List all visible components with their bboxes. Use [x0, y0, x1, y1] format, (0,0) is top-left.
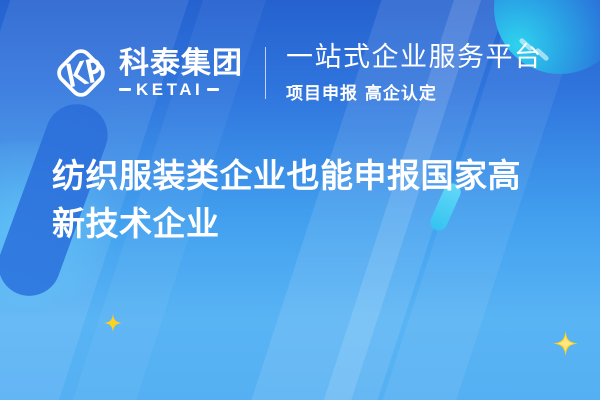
sparkle-star-icon: [104, 314, 122, 332]
dash-right-icon: [207, 88, 219, 91]
brand-logo[interactable]: 科泰集团 KETAI: [52, 44, 243, 102]
banner-headline: 纺织服装类企业也能申报国家高新技术企业: [52, 152, 522, 248]
slogan-main: 一站式企业服务平台: [286, 42, 543, 73]
brand-name-cn: 科泰集团: [119, 48, 243, 80]
brand-name-en-row: KETAI: [119, 81, 243, 98]
ketai-diamond-kd-monogram-icon: [52, 44, 110, 102]
banner-header: 科泰集团 KETAI 一站式企业服务平台 项目申报 高企认定: [52, 36, 543, 110]
header-divider: [265, 47, 266, 99]
sparkle-star-icon: [553, 331, 578, 356]
dash-left-icon: [119, 88, 131, 91]
brand-name-en: KETAI: [136, 81, 203, 98]
slogan-sub: 项目申报 高企认定: [286, 79, 543, 104]
promo-banner: 科泰集团 KETAI 一站式企业服务平台 项目申报 高企认定 纺织服装类企业也能…: [0, 0, 600, 400]
slogan-block: 一站式企业服务平台 项目申报 高企认定: [286, 42, 543, 104]
